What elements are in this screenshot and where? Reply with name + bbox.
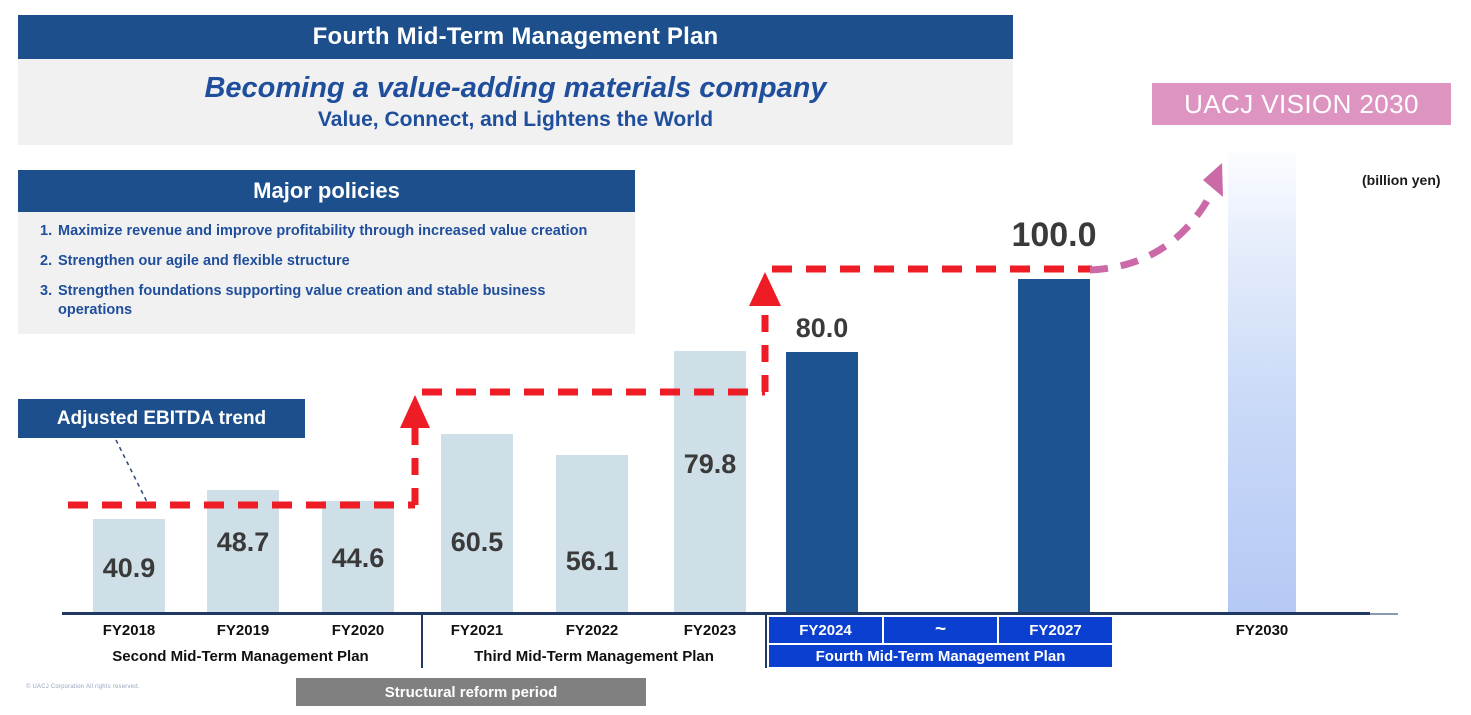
bar-fy2027 — [1018, 279, 1090, 612]
subtitle-main: Becoming a value-adding materials compan… — [204, 71, 826, 105]
policy-text: Strengthen foundations supporting value … — [58, 282, 623, 320]
x-axis-line — [62, 612, 1370, 615]
year-label-fy2030: FY2030 — [1216, 618, 1308, 642]
structural-reform-label: Structural reform period — [385, 684, 558, 701]
header-band: Fourth Mid-Term Management Plan — [18, 15, 1013, 59]
red-arrow-head-2 — [749, 272, 781, 306]
year-label-fy2019: FY2019 — [197, 618, 289, 642]
year-label-fy2027: FY2027 — [999, 617, 1112, 643]
bar-value-fy2023: 79.8 — [664, 449, 756, 480]
policy-item: 2. Strengthen our agile and flexible str… — [18, 252, 635, 271]
footer-copyright: © UACJ Corporation All rights reserved. — [26, 684, 140, 690]
major-policies-panel: Major policies 1. Maximize revenue and i… — [18, 170, 635, 334]
leader-line — [116, 440, 148, 504]
bar-value-fy2018: 40.9 — [83, 553, 175, 584]
subtitle-sub: Value, Connect, and Lightens the World — [318, 107, 713, 133]
policy-number: 1. — [40, 222, 58, 241]
plan-label-fourth: Fourth Mid-Term Management Plan — [769, 645, 1112, 667]
major-policies-heading-label: Major policies — [253, 178, 400, 204]
vision-badge-label: UACJ VISION 2030 — [1184, 89, 1419, 120]
year-label-fy2021: FY2021 — [431, 618, 523, 642]
year-label-fy2024: FY2024 — [769, 617, 882, 643]
bar-value-fy2022: 56.1 — [546, 546, 638, 577]
axis-divider-third-fourth — [765, 612, 767, 668]
vision-badge: UACJ VISION 2030 — [1152, 83, 1451, 125]
policy-text: Strengthen our agile and flexible struct… — [58, 252, 623, 271]
major-policies-list: 1. Maximize revenue and improve profitab… — [18, 212, 635, 334]
plan-label-third: Third Mid-Term Management Plan — [423, 645, 765, 667]
pink-arrow-head — [1203, 163, 1223, 197]
year-label-fy2018: FY2018 — [83, 618, 175, 642]
year-label-fy2020: FY2020 — [312, 618, 404, 642]
year-label-fy2023: FY2023 — [664, 618, 756, 642]
ebitda-callout: Adjusted EBITDA trend — [18, 399, 305, 438]
ebitda-callout-label: Adjusted EBITDA trend — [57, 408, 266, 430]
structural-reform-band: Structural reform period — [296, 678, 646, 706]
bar-value-fy2024: 80.0 — [776, 313, 868, 344]
policy-number: 3. — [40, 282, 58, 320]
major-policies-heading: Major policies — [18, 170, 635, 212]
plan-label-second: Second Mid-Term Management Plan — [62, 645, 419, 667]
bar-value-fy2020: 44.6 — [312, 543, 404, 574]
bar-fy2021 — [441, 434, 513, 612]
bar-value-fy2021: 60.5 — [431, 527, 523, 558]
unit-label: (billion yen) — [1362, 172, 1441, 188]
bar-fy2022 — [556, 455, 628, 612]
x-axis-tail — [1370, 613, 1398, 615]
policy-number: 2. — [40, 252, 58, 271]
year-label-tilde: ~ — [884, 617, 997, 643]
red-arrow-head-1 — [400, 395, 430, 428]
policy-item: 3. Strengthen foundations supporting val… — [18, 282, 635, 320]
policy-text: Maximize revenue and improve profitabili… — [58, 222, 623, 241]
bar-fy2023 — [674, 351, 746, 612]
bar-fy2030 — [1228, 152, 1296, 612]
header-title: Fourth Mid-Term Management Plan — [313, 23, 719, 51]
policy-item: 1. Maximize revenue and improve profitab… — [18, 222, 635, 241]
year-label-fy2022: FY2022 — [546, 618, 638, 642]
subtitle-band: Becoming a value-adding materials compan… — [18, 59, 1013, 145]
bar-value-fy2019: 48.7 — [197, 527, 289, 558]
slide-root: Fourth Mid-Term Management Plan Becoming… — [0, 0, 1471, 715]
bar-value-fy2027: 100.0 — [984, 216, 1124, 255]
bar-fy2024 — [786, 352, 858, 612]
